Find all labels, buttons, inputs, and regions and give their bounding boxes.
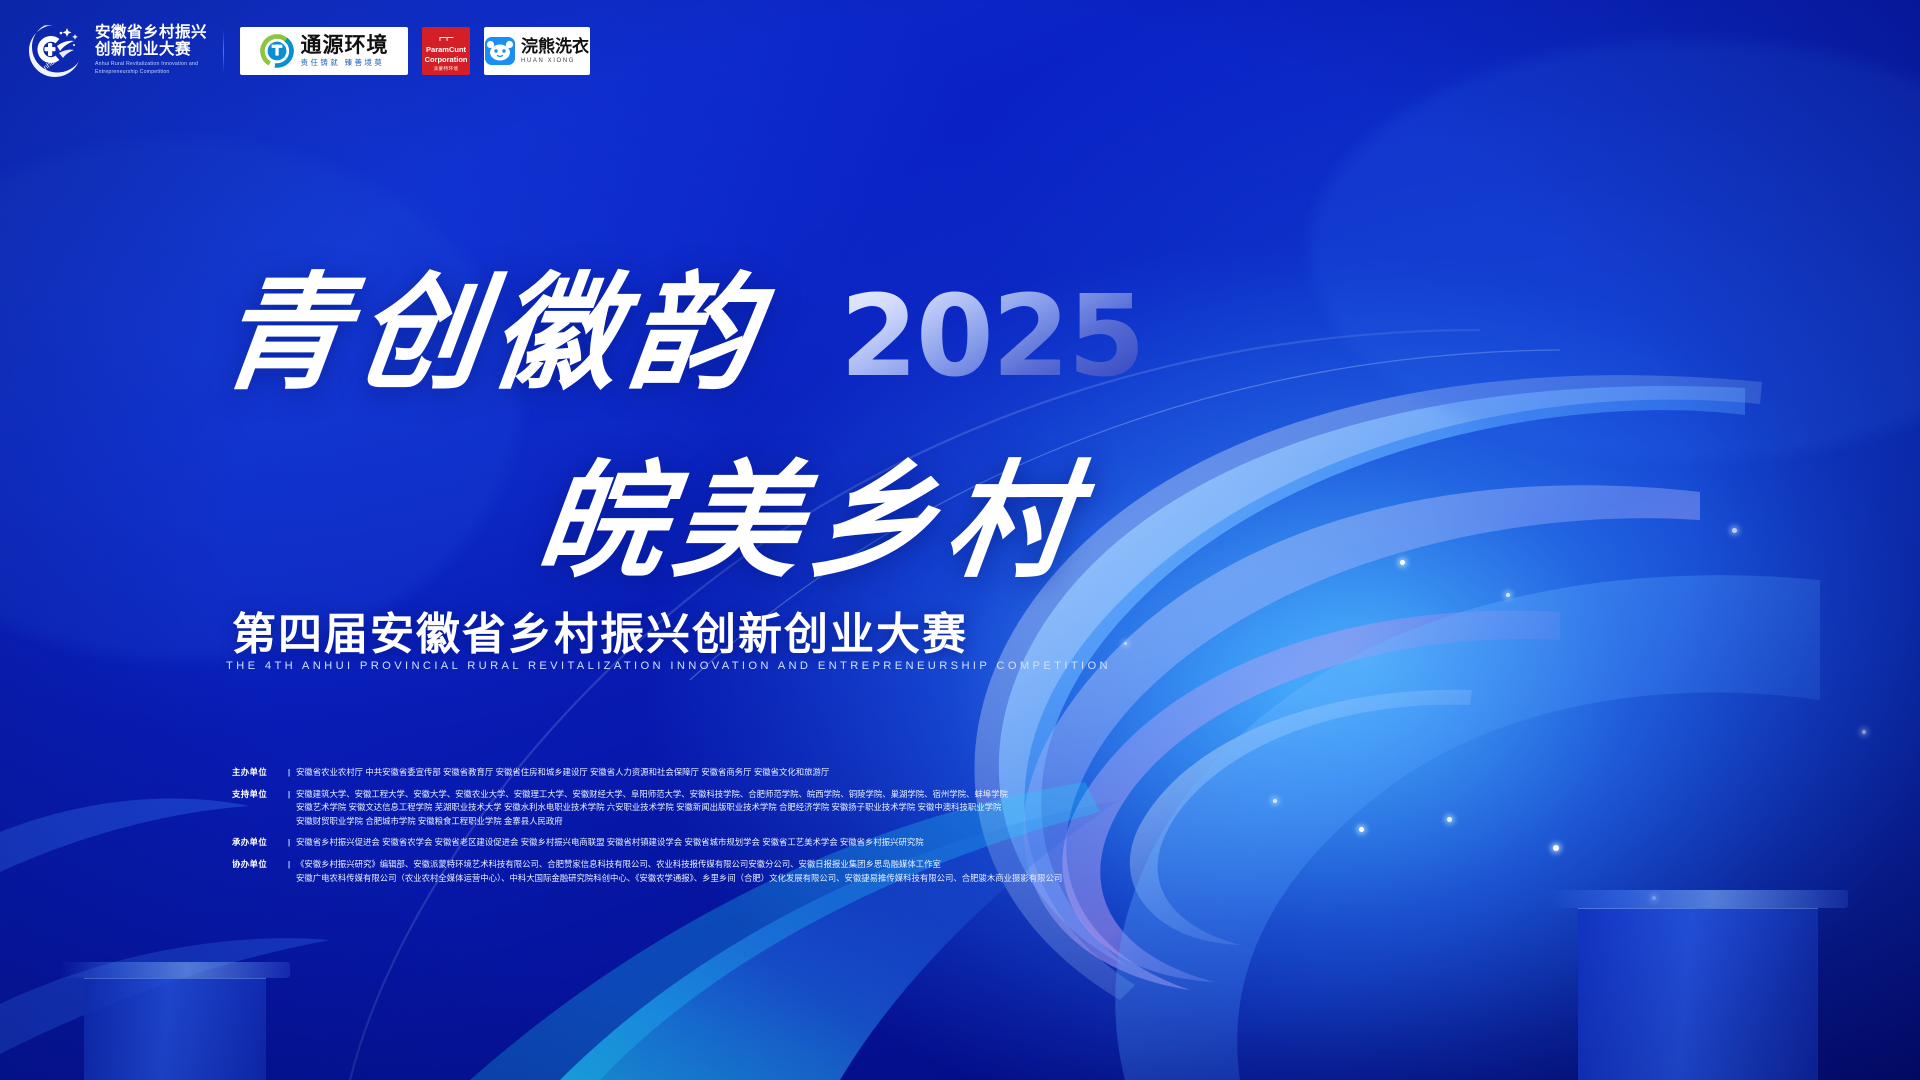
credit-row: 承办单位 | 安徽省乡村振兴促进会 安徽省农学会 安徽省老区建设促进会 安徽乡村… xyxy=(232,836,1212,850)
sparkle-dot xyxy=(1553,845,1559,851)
credit-body: 安徽省农业农村厅 中共安徽省委宣传部 安徽省教育厅 安徽省住房和城乡建设厅 安徽… xyxy=(296,766,1212,780)
credit-separator: | xyxy=(282,858,296,885)
credit-line: 安徽省农业农村厅 中共安徽省委宣传部 安徽省教育厅 安徽省住房和城乡建设厅 安徽… xyxy=(296,766,1212,780)
credits-block: 主办单位 | 安徽省农业农村厅 中共安徽省委宣传部 安徽省教育厅 安徽省住房和城… xyxy=(232,766,1212,885)
sparkle-dot xyxy=(1506,593,1510,597)
sparkle-dot xyxy=(1400,560,1405,565)
sparkle-dot xyxy=(1273,799,1277,803)
sponsor-logo-paramount: ⌐⌐ ParamCunt Corporation 派蒙特环境 xyxy=(422,27,470,75)
paramount-name-line2: Corporation xyxy=(425,56,468,64)
sparkle-dot xyxy=(1447,817,1452,822)
tongyuan-ring-icon xyxy=(260,34,294,68)
credit-separator: | xyxy=(282,788,296,829)
main-logo-en-line1: Anhui Rural Revitalization Innovation an… xyxy=(95,61,207,69)
tongyuan-name: 通源环境 xyxy=(301,35,389,56)
credit-body: 《安徽乡村振兴研究》编辑部、安徽派蒙特环境艺术科技有限公司、合肥赞家信息科技有限… xyxy=(296,858,1212,885)
credit-line: 安徽广电农科传媒有限公司（农业农村全媒体运营中心）、中科大国际金融研究院科创中心… xyxy=(296,872,1212,886)
credit-row: 主办单位 | 安徽省农业农村厅 中共安徽省委宣传部 安徽省教育厅 安徽省住房和城… xyxy=(232,766,1212,780)
poster-background xyxy=(0,0,1920,1080)
sponsor-logo-tongyuan-environment: 通源环境 责任铸就 臻善境莫 xyxy=(240,27,408,75)
credit-row: 支持单位 | 安徽建筑大学、安徽工程大学、安徽大学、安徽农业大学、安徽理工大学、… xyxy=(232,788,1212,829)
podium-right xyxy=(1548,890,1848,1080)
podium-left xyxy=(60,962,290,1080)
paramount-name-line1: ParamCunt xyxy=(426,46,466,54)
huanxiong-bear-icon xyxy=(485,37,515,65)
paramount-name-cn: 派蒙特环境 xyxy=(434,66,459,72)
credit-line: 安徽建筑大学、安徽工程大学、安徽大学、安徽农业大学、安徽理工大学、安徽财经大学、… xyxy=(296,788,1212,802)
logo-bar: Anhui 安徽省乡村振兴 创新创业大赛 Anhui Rural Revital… xyxy=(24,16,590,86)
credit-line: 安徽艺术学院 安徽文达信息工程学院 芜湖职业技术大学 安徽水利水电职业技术学院 … xyxy=(296,801,1212,815)
logo-divider xyxy=(223,29,224,73)
main-competition-logo: Anhui 安徽省乡村振兴 创新创业大赛 Anhui Rural Revital… xyxy=(24,20,207,82)
credit-line: 安徽省乡村振兴促进会 安徽省农学会 安徽省老区建设促进会 安徽乡村振兴电商联盟 … xyxy=(296,836,1212,850)
main-logo-cn-line1: 安徽省乡村振兴 xyxy=(95,25,207,41)
credit-label: 承办单位 xyxy=(232,836,282,850)
credit-separator: | xyxy=(282,766,296,780)
sponsor-logo-huanxiong: 浣熊洗衣 HUAN XIONG xyxy=(484,27,590,75)
sparkle-dot xyxy=(1732,528,1737,533)
anhui-rural-revitalization-emblem-icon: Anhui xyxy=(24,20,86,82)
credit-label: 协办单位 xyxy=(232,858,282,885)
huanxiong-name: 浣熊洗衣 xyxy=(521,38,589,55)
credit-label: 支持单位 xyxy=(232,788,282,829)
credit-row: 协办单位 | 《安徽乡村振兴研究》编辑部、安徽派蒙特环境艺术科技有限公司、合肥赞… xyxy=(232,858,1212,885)
huanxiong-name-en: HUAN XIONG xyxy=(521,58,589,64)
sparkle-dot xyxy=(1862,730,1866,734)
main-logo-en-line2: Entrepreneurship Competition xyxy=(95,69,207,77)
credit-separator: | xyxy=(282,836,296,850)
credit-label: 主办单位 xyxy=(232,766,282,780)
credit-line: 《安徽乡村振兴研究》编辑部、安徽派蒙特环境艺术科技有限公司、合肥赞家信息科技有限… xyxy=(296,858,1212,872)
sparkle-dot xyxy=(1359,827,1364,832)
tongyuan-slogan: 责任铸就 臻善境莫 xyxy=(301,59,389,67)
credit-body: 安徽省乡村振兴促进会 安徽省农学会 安徽省老区建设促进会 安徽乡村振兴电商联盟 … xyxy=(296,836,1212,850)
credit-body: 安徽建筑大学、安徽工程大学、安徽大学、安徽农业大学、安徽理工大学、安徽财经大学、… xyxy=(296,788,1212,829)
credit-line: 安徽财贸职业学院 合肥城市学院 安徽粮食工程职业学院 金寨县人民政府 xyxy=(296,815,1212,829)
sparkle-dot xyxy=(1124,642,1127,645)
main-logo-cn-line2: 创新创业大赛 xyxy=(95,42,207,58)
paramount-monogram-icon: ⌐⌐ xyxy=(439,30,453,44)
